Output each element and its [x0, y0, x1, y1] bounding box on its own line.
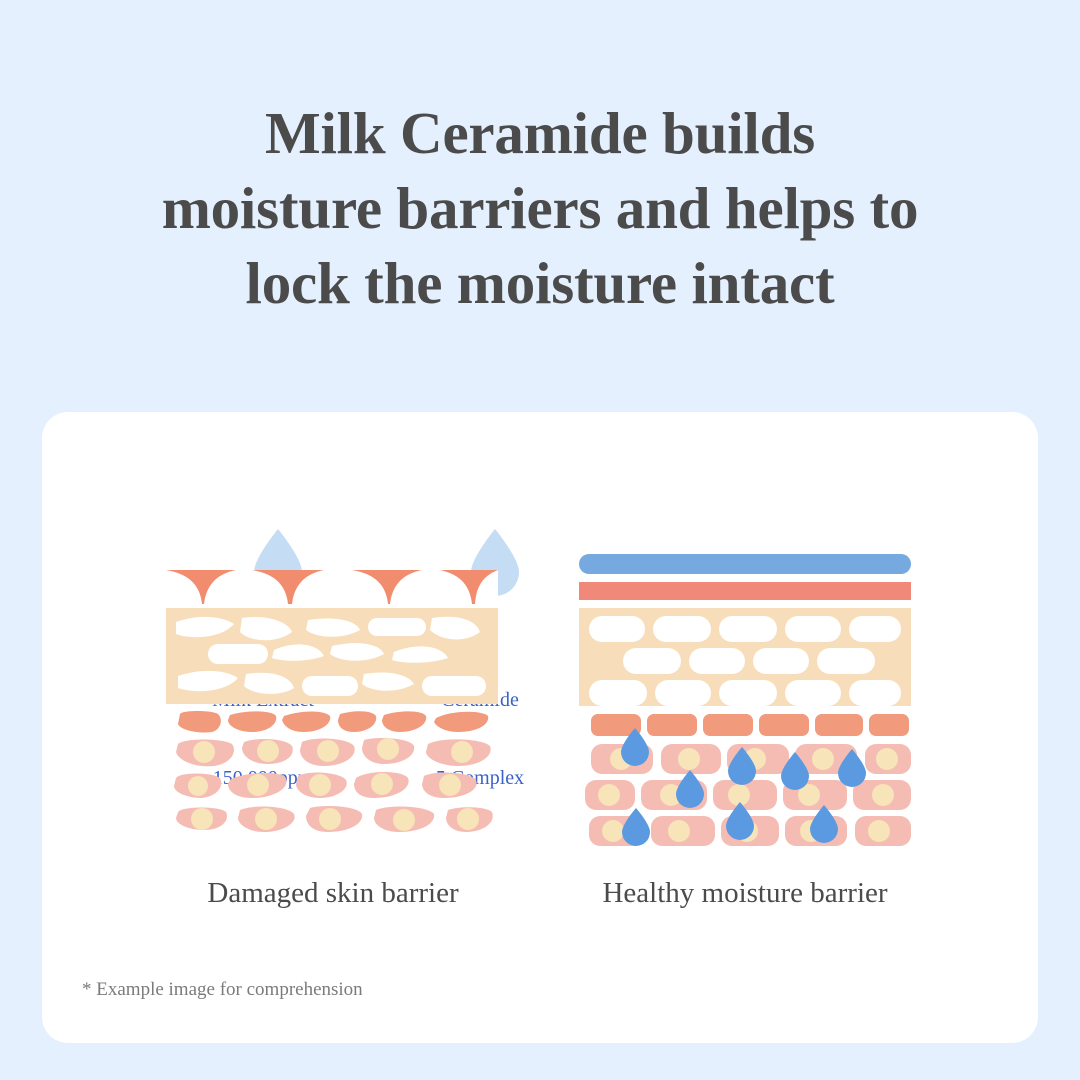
footnote-disclaimer: * Example image for comprehension	[82, 979, 363, 1001]
layer-surface	[579, 582, 911, 600]
layer-moisture-barrier-film	[579, 554, 911, 574]
caption-damaged-skin-barrier: Damaged skin barrier	[138, 877, 528, 910]
diagram-healthy-moisture-barrier	[577, 552, 913, 860]
caption-healthy-moisture-barrier: Healthy moisture barrier	[550, 877, 940, 910]
layer-dermis-row-2	[174, 772, 477, 798]
layer-dermis-row-3	[176, 806, 493, 832]
illustration-card: Milk Extract 150,000ppm Ceramide 5 Compl…	[42, 412, 1038, 1043]
page-title-line-1: Milk Ceramide builds	[0, 96, 1080, 171]
page-title: Milk Ceramide builds moisture barriers a…	[0, 96, 1080, 321]
layer-stratum-corneum-healthy	[579, 608, 911, 706]
page-title-line-3: lock the moisture intact	[0, 246, 1080, 321]
layer-basal-damaged	[178, 711, 488, 733]
page-title-line-2: moisture barriers and helps to	[0, 171, 1080, 246]
layer-dermis-row-1	[176, 738, 491, 766]
layer-flaking-surface	[166, 570, 498, 604]
layer-stratum-corneum-damaged	[166, 608, 498, 704]
diagram-damaged-skin-barrier	[164, 570, 500, 860]
